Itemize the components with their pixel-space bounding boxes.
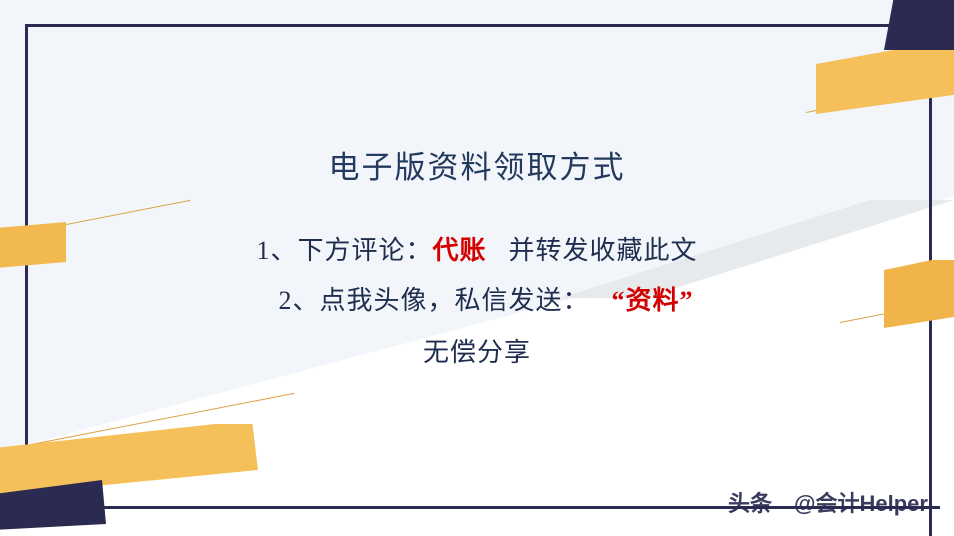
decorative-navy-block-top-right — [884, 0, 954, 50]
page-title: 电子版资料领取方式 — [0, 142, 954, 187]
instruction-line-1-highlight: 代账 — [432, 236, 486, 265]
watermark-handle: @会计Helper — [794, 491, 928, 516]
instructions-list: 1、下方评论：代账并转发收藏此文 2、点我头像，私信发送：“资料” 无偿分享 — [0, 238, 954, 366]
instruction-line-3: 无偿分享 — [0, 340, 954, 366]
instruction-line-1: 1、下方评论：代账并转发收藏此文 — [0, 238, 954, 264]
instruction-line-2: 2、点我头像，私信发送：“资料” — [0, 288, 954, 314]
instruction-line-1-prefix: 1、下方评论： — [256, 236, 432, 265]
watermark: 头条@会计Helper — [728, 486, 928, 518]
instruction-line-3-text: 无偿分享 — [423, 338, 531, 367]
slide-canvas: 电子版资料领取方式 1、下方评论：代账并转发收藏此文 2、点我头像，私信发送：“… — [0, 0, 954, 536]
instruction-line-1-suffix: 并转发收藏此文 — [509, 236, 698, 265]
instruction-line-2-highlight: “资料” — [612, 286, 694, 315]
instruction-line-2-prefix: 2、点我头像，私信发送： — [278, 286, 589, 315]
frame-line-top — [25, 24, 905, 27]
watermark-platform: 头条 — [728, 491, 772, 516]
